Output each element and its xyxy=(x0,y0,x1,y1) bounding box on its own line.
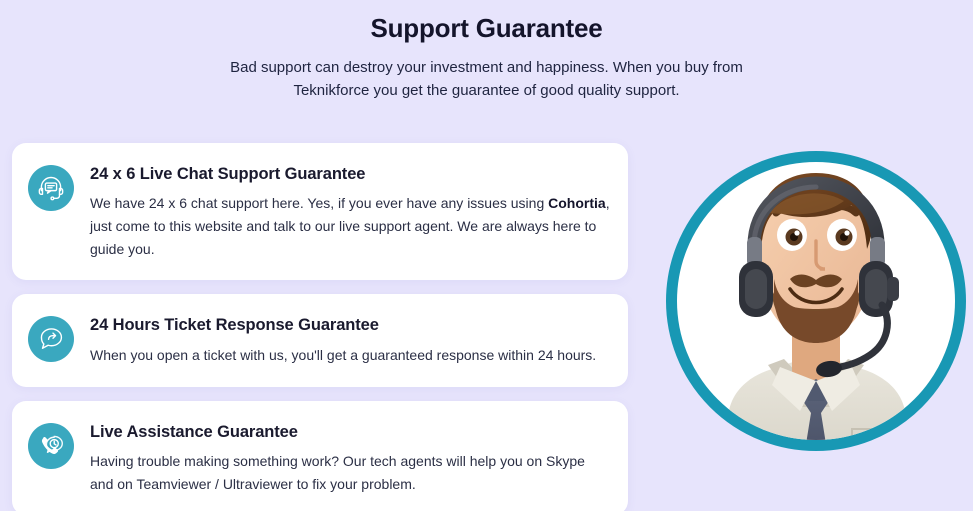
headset-chat-icon xyxy=(28,165,74,211)
guarantee-card[interactable]: 24 x 6 Live Chat Support Guarantee We ha… xyxy=(12,143,628,280)
content-area: 24 x 6 Live Chat Support Guarantee We ha… xyxy=(0,143,973,511)
card-text-before: We have 24 x 6 chat support here. Yes, i… xyxy=(90,195,548,211)
agent-figure xyxy=(666,129,966,474)
phone-clock-icon xyxy=(28,423,74,469)
card-text: When you open a ticket with us, you'll g… xyxy=(90,344,610,367)
card-title: Live Assistance Guarantee xyxy=(90,422,610,443)
card-text-before: Having trouble making something work? Ou… xyxy=(90,453,585,492)
card-text-before: When you open a ticket with us, you'll g… xyxy=(90,347,596,363)
support-guarantee-section: Support Guarantee Bad support can destro… xyxy=(0,0,973,511)
page-title: Support Guarantee xyxy=(0,13,973,44)
support-agent-illustration xyxy=(666,151,966,451)
card-text-bold: Cohortia xyxy=(548,195,606,211)
card-title: 24 x 6 Live Chat Support Guarantee xyxy=(90,164,610,185)
card-body: Live Assistance Guarantee Having trouble… xyxy=(90,421,610,496)
card-title: 24 Hours Ticket Response Guarantee xyxy=(90,315,610,336)
card-body: 24 Hours Ticket Response Guarantee When … xyxy=(90,314,610,366)
guarantee-card[interactable]: Live Assistance Guarantee Having trouble… xyxy=(12,401,628,511)
chat-reply-icon xyxy=(28,316,74,362)
page-subtitle: Bad support can destroy your investment … xyxy=(207,56,767,103)
guarantee-card-list: 24 x 6 Live Chat Support Guarantee We ha… xyxy=(12,143,628,511)
card-body: 24 x 6 Live Chat Support Guarantee We ha… xyxy=(90,163,610,260)
card-text: Having trouble making something work? Ou… xyxy=(90,450,610,495)
section-header: Support Guarantee Bad support can destro… xyxy=(0,0,973,103)
guarantee-card[interactable]: 24 Hours Ticket Response Guarantee When … xyxy=(12,294,628,386)
card-text: We have 24 x 6 chat support here. Yes, i… xyxy=(90,192,610,260)
